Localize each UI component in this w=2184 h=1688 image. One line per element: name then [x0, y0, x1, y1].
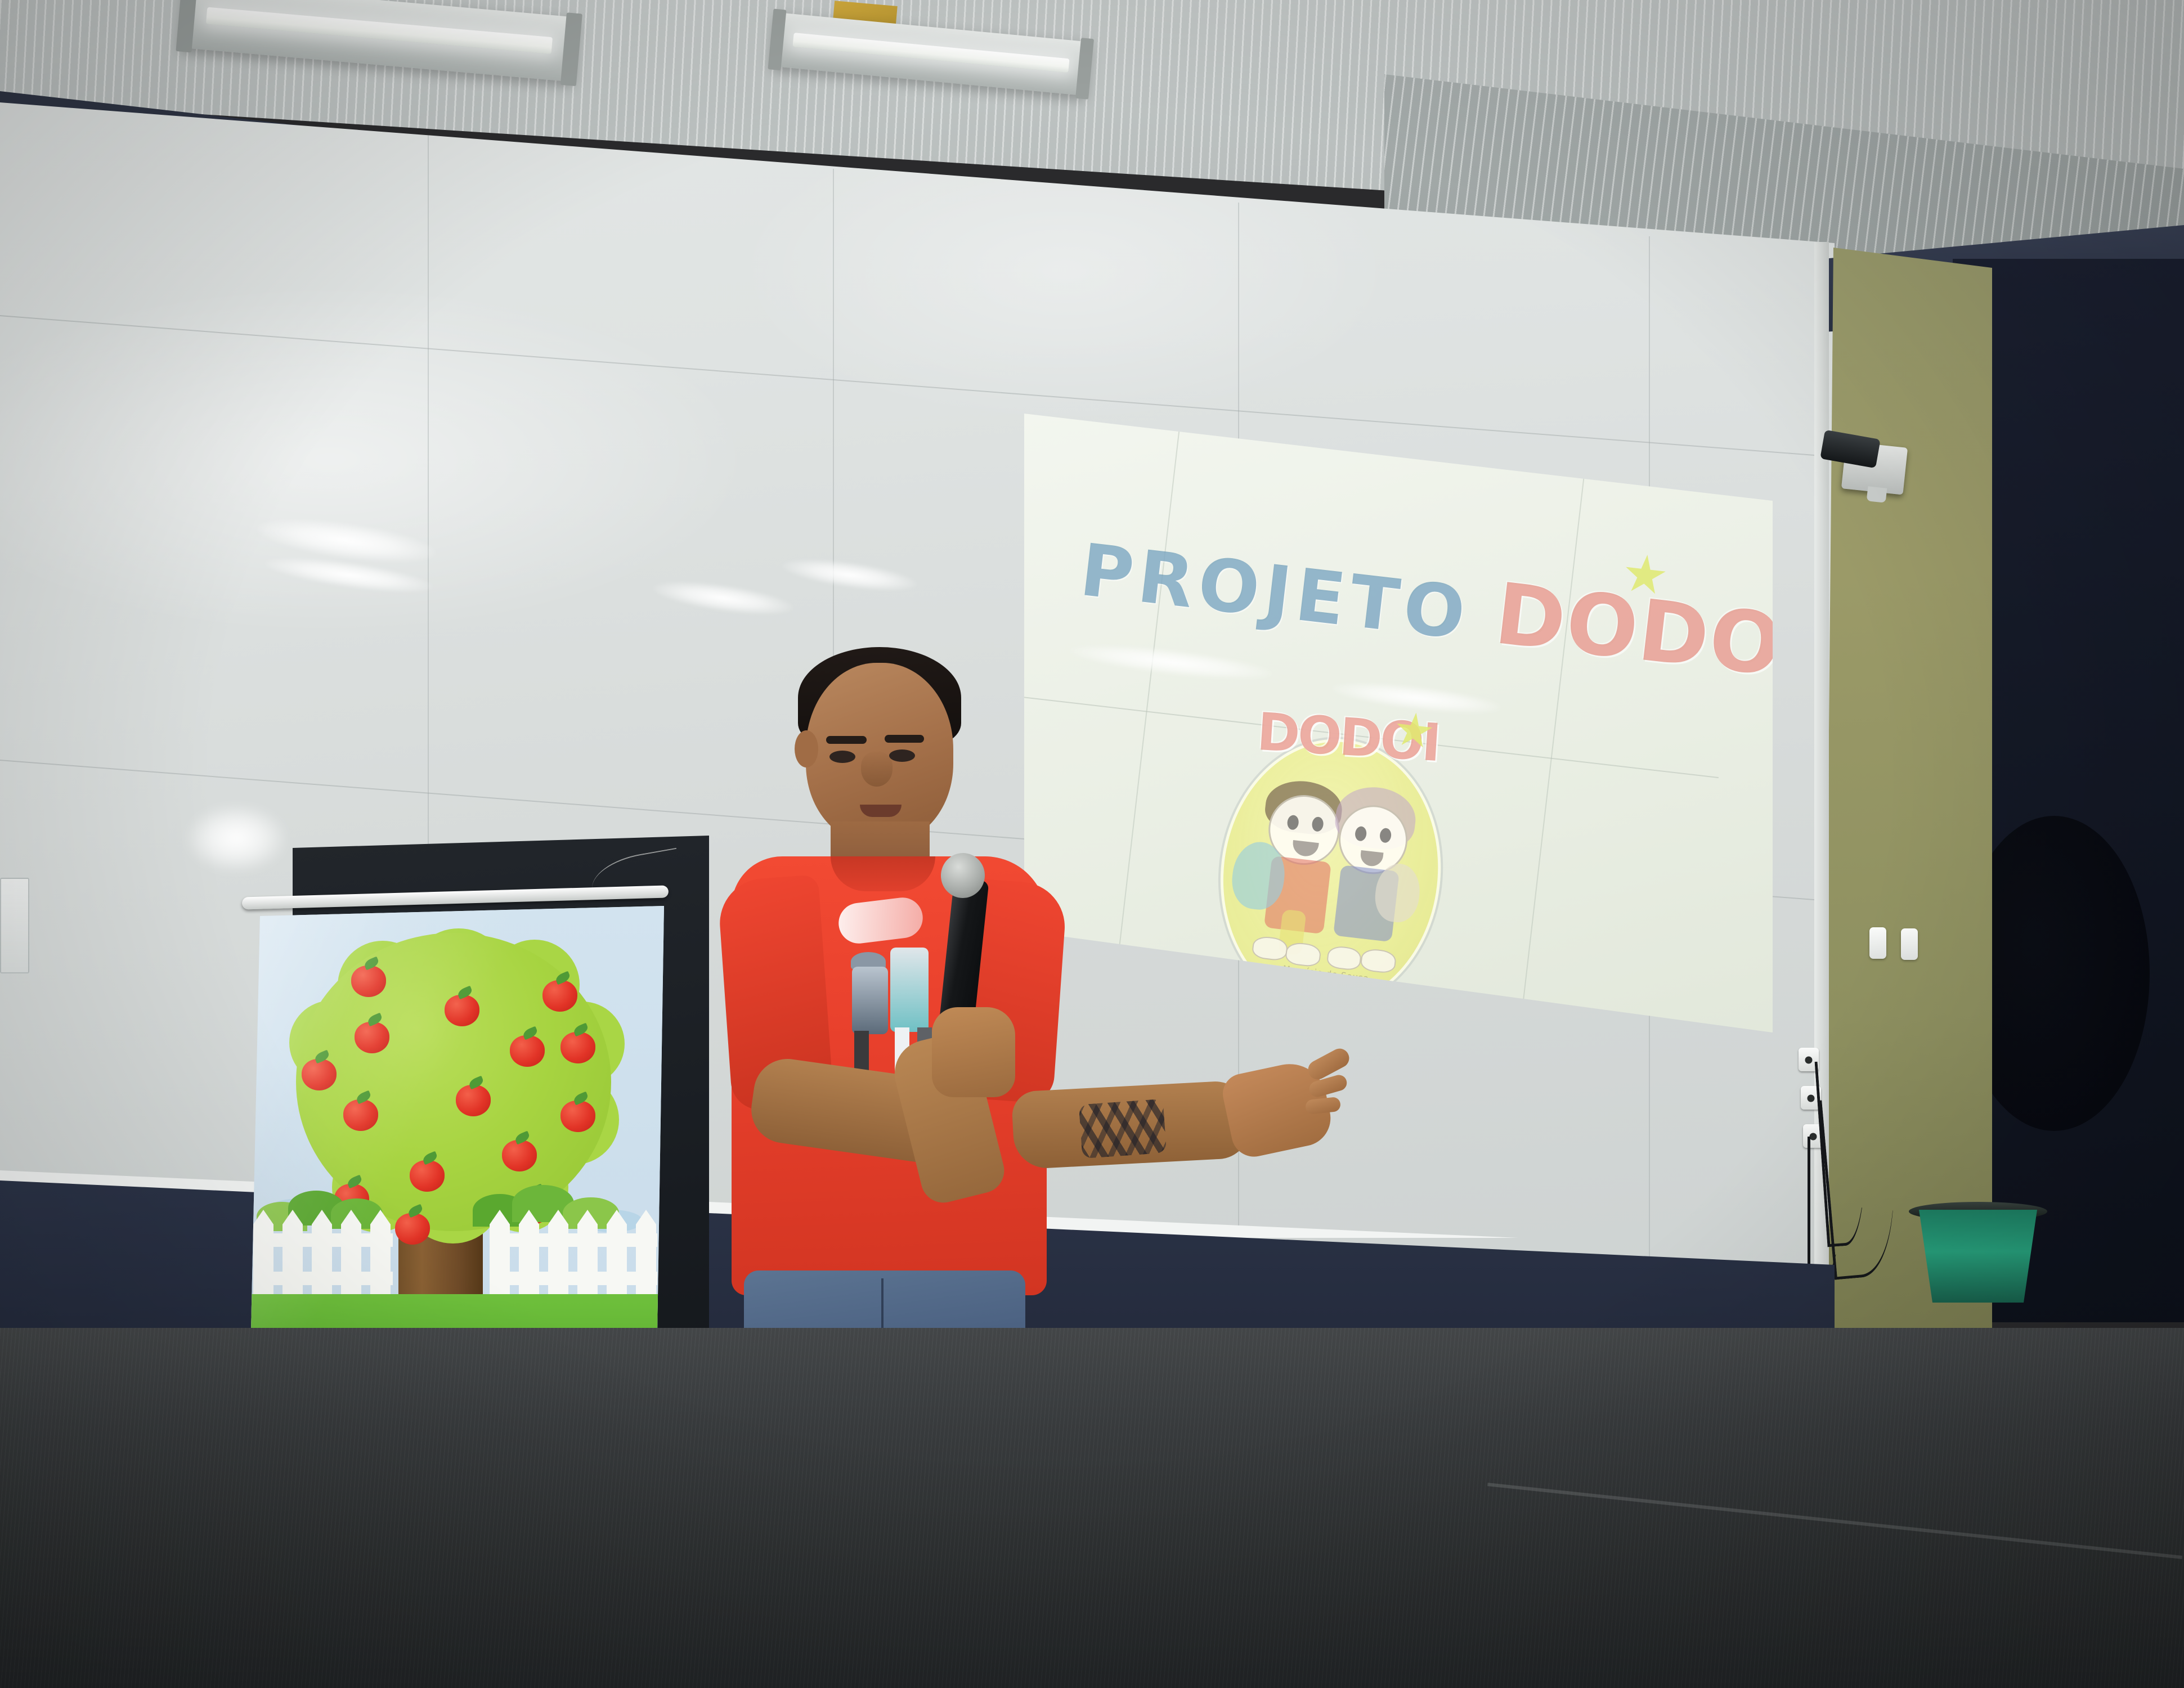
- carpet-texture: [0, 1328, 2184, 1688]
- light-switch-1[interactable]: [1869, 927, 1886, 959]
- shirt-graphic-figure-1: [852, 967, 888, 1034]
- presentation-photo-scene: PROJETODODOI DODOI: [0, 0, 2184, 1688]
- presenter-mouth: [860, 805, 902, 817]
- poster-apple: [395, 1213, 430, 1245]
- outlet-hole: [1805, 1056, 1813, 1063]
- projection-seam-v2: [1513, 411, 1592, 1082]
- fence-rail-bottom: [490, 1272, 657, 1285]
- presenter-eyebrow-right: [885, 735, 924, 743]
- fence-rail-top: [490, 1233, 657, 1247]
- wall-glare-5: [186, 805, 287, 872]
- poster-apple: [351, 966, 386, 997]
- fence-rail-top: [253, 1233, 393, 1247]
- security-camera-mount: [1867, 486, 1887, 502]
- poster-apple: [445, 995, 479, 1026]
- wall-panel-plaque: [0, 878, 29, 973]
- presenter-eye-right: [889, 749, 915, 762]
- poster-apple: [355, 1022, 389, 1053]
- presenter-forearm-tattoo: [1079, 1099, 1167, 1159]
- light-switch-2[interactable]: [1901, 928, 1918, 960]
- presenter-ear: [795, 730, 818, 767]
- poster-apple: [542, 980, 577, 1012]
- poster-apple: [560, 1032, 595, 1063]
- poster-apple: [456, 1085, 491, 1116]
- presenter-hand-on-mic: [932, 1007, 1015, 1097]
- poster-apple: [302, 1059, 337, 1090]
- carpet-floor: [0, 1328, 2184, 1688]
- presenter-nose: [861, 752, 893, 787]
- green-bucket: [1913, 1210, 2043, 1303]
- presenter-eye-left: [829, 751, 855, 763]
- slide-title-word-dodoi: DODOI: [1490, 565, 1820, 699]
- poster-apple: [510, 1035, 545, 1067]
- poster-apple: [343, 1099, 378, 1131]
- fence-rail-bottom: [253, 1272, 393, 1285]
- poster-apple: [502, 1140, 537, 1171]
- poster-apple: [410, 1160, 445, 1192]
- shirt-graphic-figure-2: [890, 948, 929, 1032]
- shirt-graphic-logo: [836, 895, 925, 946]
- poster-apple: [560, 1101, 595, 1132]
- presenter-eyebrow-left: [826, 736, 867, 744]
- outlet-hole: [1808, 1094, 1815, 1102]
